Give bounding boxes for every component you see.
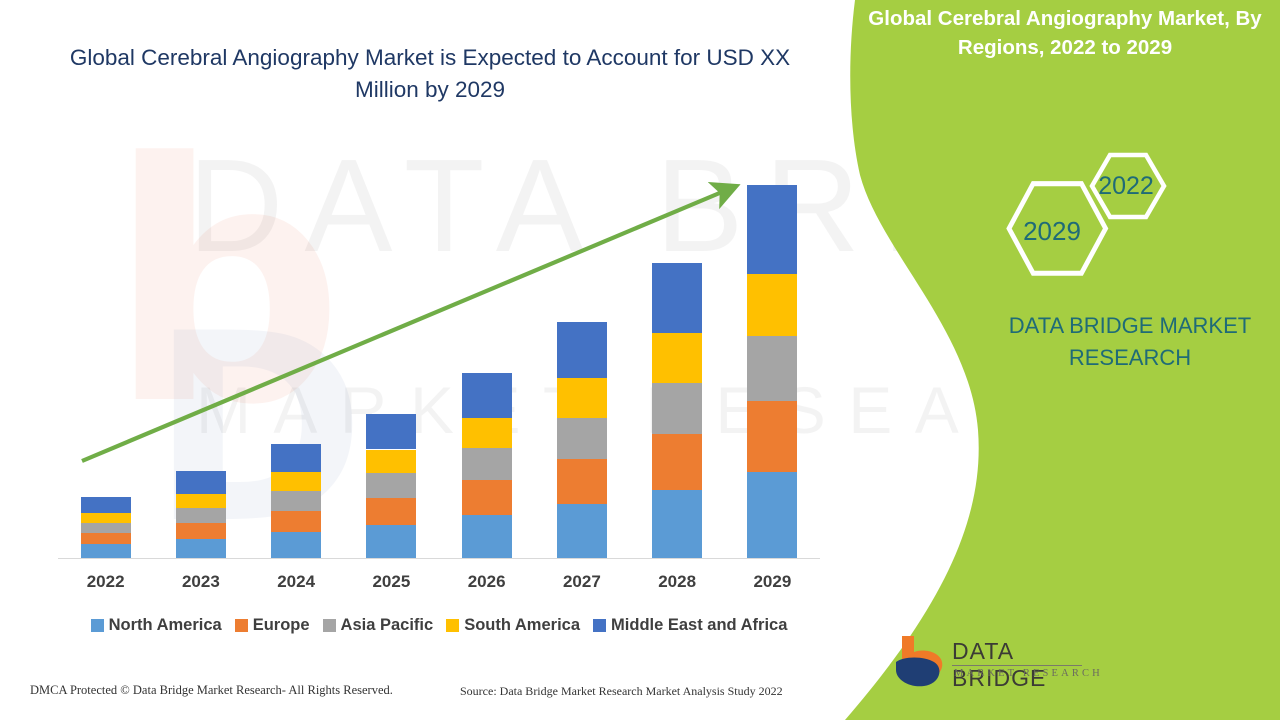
brand-name: DATA BRIDGE MARKET RESEARCH	[985, 310, 1275, 374]
x-axis-label: 2027	[534, 572, 629, 600]
bar-segment	[271, 511, 321, 532]
bar-segment	[557, 322, 607, 379]
bar-segment	[462, 448, 512, 480]
panel-title: Global Cerebral Angiography Market, By R…	[860, 4, 1270, 62]
bar-segment	[81, 533, 131, 544]
x-axis-label: 2022	[58, 572, 153, 600]
bar-segment	[176, 508, 226, 523]
bar-segment	[652, 383, 702, 434]
axis-baseline	[58, 558, 820, 559]
footer-copyright: DMCA Protected © Data Bridge Market Rese…	[30, 683, 393, 698]
legend-label: South America	[464, 616, 580, 635]
bar-segment	[557, 459, 607, 504]
infographic-canvas: b D DATA BRIDGE MARKET RESEARCH Global C…	[0, 0, 1280, 720]
legend-item[interactable]: Asia Pacific	[323, 616, 434, 635]
x-axis-label: 2023	[153, 572, 248, 600]
legend-item[interactable]: Middle East and Africa	[593, 616, 787, 635]
bar-segment	[557, 504, 607, 558]
legend-swatch-icon	[235, 619, 248, 632]
legend-item[interactable]: South America	[446, 616, 580, 635]
bar-segment	[747, 472, 797, 558]
bar-segment	[557, 418, 607, 459]
bar-segment	[81, 497, 131, 513]
bar-segment	[462, 373, 512, 418]
legend-swatch-icon	[593, 619, 606, 632]
x-axis-labels: 20222023202420252026202720282029	[58, 572, 820, 600]
bar-segment	[747, 274, 797, 336]
bar-segment	[652, 490, 702, 558]
bar-segment	[271, 472, 321, 491]
legend-swatch-icon	[91, 619, 104, 632]
bar-segment	[747, 336, 797, 400]
bar-segment	[176, 523, 226, 539]
bar-segment	[652, 263, 702, 333]
legend-label: North America	[109, 616, 222, 635]
bar-segment	[366, 473, 416, 498]
bar-segment	[176, 539, 226, 558]
bar-segment	[462, 515, 512, 558]
bar-segment	[81, 523, 131, 533]
legend-item[interactable]: North America	[91, 616, 222, 635]
bar-segment	[176, 471, 226, 494]
legend-label: Middle East and Africa	[611, 616, 787, 635]
bar-segment	[366, 414, 416, 449]
chart-legend: North AmericaEuropeAsia PacificSouth Ame…	[58, 616, 820, 635]
bar-segment	[366, 525, 416, 558]
logo-mark-icon	[890, 632, 960, 692]
bar-segment	[747, 185, 797, 274]
x-axis-label: 2024	[249, 572, 344, 600]
hexagon-label-2022: 2022	[1088, 172, 1164, 201]
chart-plot-area: 20222023202420252026202720282029 North A…	[0, 0, 840, 600]
logo-tagline: MARKET RESEARCH	[954, 668, 1103, 679]
legend-label: Asia Pacific	[341, 616, 434, 635]
bar-segment	[557, 378, 607, 418]
legend-swatch-icon	[323, 619, 336, 632]
company-logo: DATA BRIDGE MARKET RESEARCH	[890, 632, 1105, 694]
bar-segment	[652, 333, 702, 383]
bar-segment	[81, 513, 131, 523]
bar-segment	[747, 401, 797, 472]
legend-item[interactable]: Europe	[235, 616, 310, 635]
bar-segment	[366, 450, 416, 474]
hexagon-label-2029: 2029	[1010, 216, 1094, 247]
x-axis-label: 2029	[725, 572, 820, 600]
bar-segment	[271, 444, 321, 472]
x-axis-label: 2025	[344, 572, 439, 600]
bar-segment	[652, 434, 702, 491]
bar-segment	[271, 532, 321, 558]
bar-segment	[462, 480, 512, 515]
x-axis-label: 2028	[630, 572, 725, 600]
bar-segment	[176, 494, 226, 509]
legend-swatch-icon	[446, 619, 459, 632]
bar-segment	[271, 491, 321, 510]
bar-segment	[366, 498, 416, 525]
footer-source: Source: Data Bridge Market Research Mark…	[460, 684, 783, 699]
x-axis-label: 2026	[439, 572, 534, 600]
bar-segment	[81, 544, 131, 558]
logo-divider	[952, 665, 1082, 666]
bar-segment	[462, 418, 512, 449]
legend-label: Europe	[253, 616, 310, 635]
